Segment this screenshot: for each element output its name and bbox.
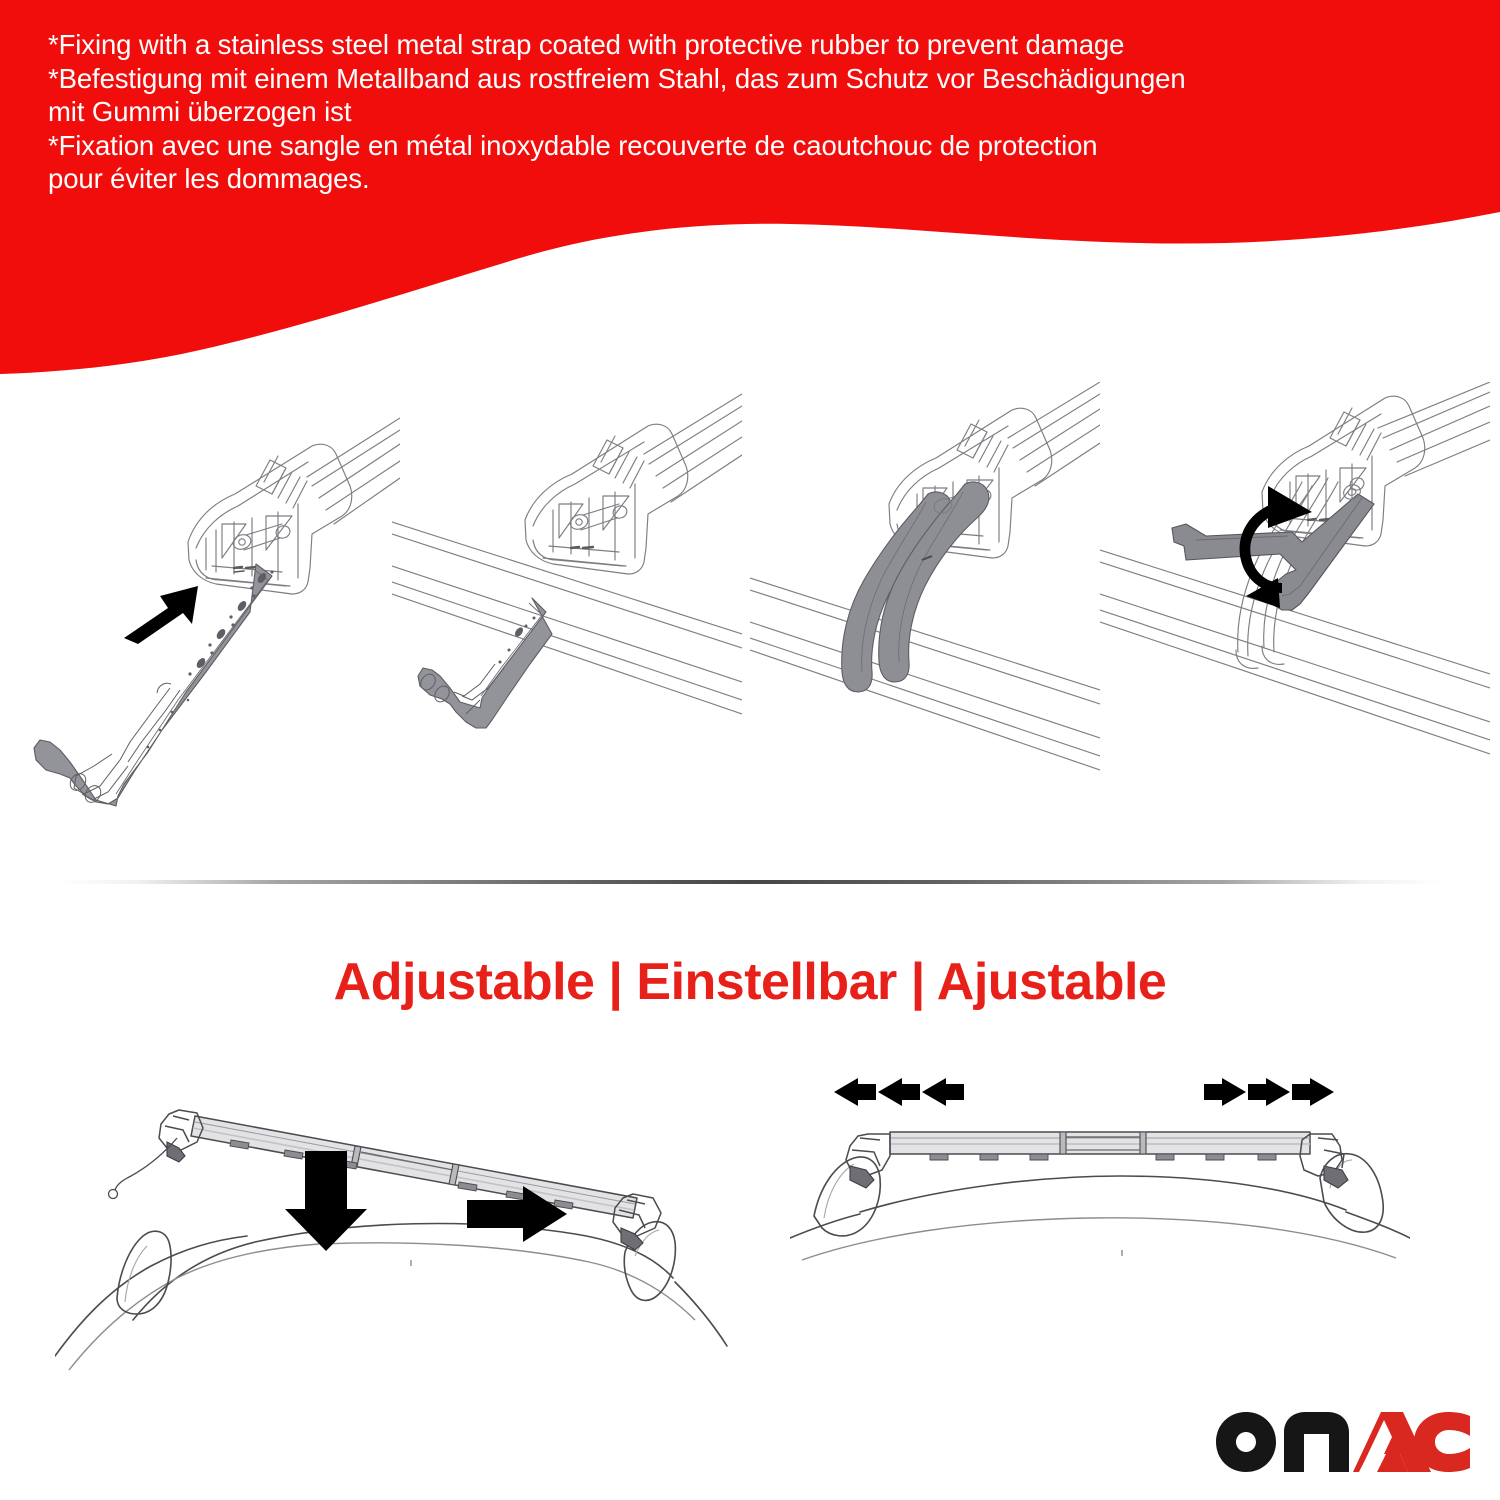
- infographic-page: *Fixing with a stainless steel metal str…: [0, 0, 1500, 1500]
- banner-text-block: *Fixing with a stainless steel metal str…: [48, 28, 1468, 196]
- triple-right-arrow: [1204, 1078, 1334, 1106]
- banner-line-french: *Fixation avec une sangle en métal inoxy…: [48, 129, 1468, 196]
- metal-strap: [34, 564, 274, 806]
- step-1-insert-strap-into-foot: [20, 382, 400, 862]
- step-3-strap-wrapped-around-rail: [750, 382, 1100, 862]
- banner-line-german: *Befestigung mit einem Metallband aus ro…: [48, 62, 1468, 129]
- diagram-crossbar-width-adjust: [790, 1070, 1410, 1390]
- diagram-crossbar-lowering: [55, 1070, 745, 1390]
- metal-strap-short: [418, 598, 552, 728]
- adjustable-diagrams-row: [0, 1070, 1500, 1390]
- section-divider: [55, 880, 1445, 884]
- triple-left-arrow: [834, 1078, 964, 1106]
- up-right-arrow: [124, 586, 198, 644]
- banner-line-english: *Fixing with a stainless steel metal str…: [48, 28, 1468, 62]
- step-4-tighten-with-allen-key: [1100, 382, 1490, 862]
- installation-steps-row: [0, 382, 1500, 862]
- step-2-foot-on-roof-rail: [392, 382, 742, 862]
- logo-letter-o: [1216, 1412, 1276, 1472]
- logo-letter-m: [1284, 1412, 1349, 1472]
- adjustable-headline: Adjustable | Einstellbar | Ajustable: [0, 952, 1500, 1012]
- omac-logo: [1214, 1410, 1472, 1474]
- header-banner: *Fixing with a stainless steel metal str…: [0, 0, 1500, 380]
